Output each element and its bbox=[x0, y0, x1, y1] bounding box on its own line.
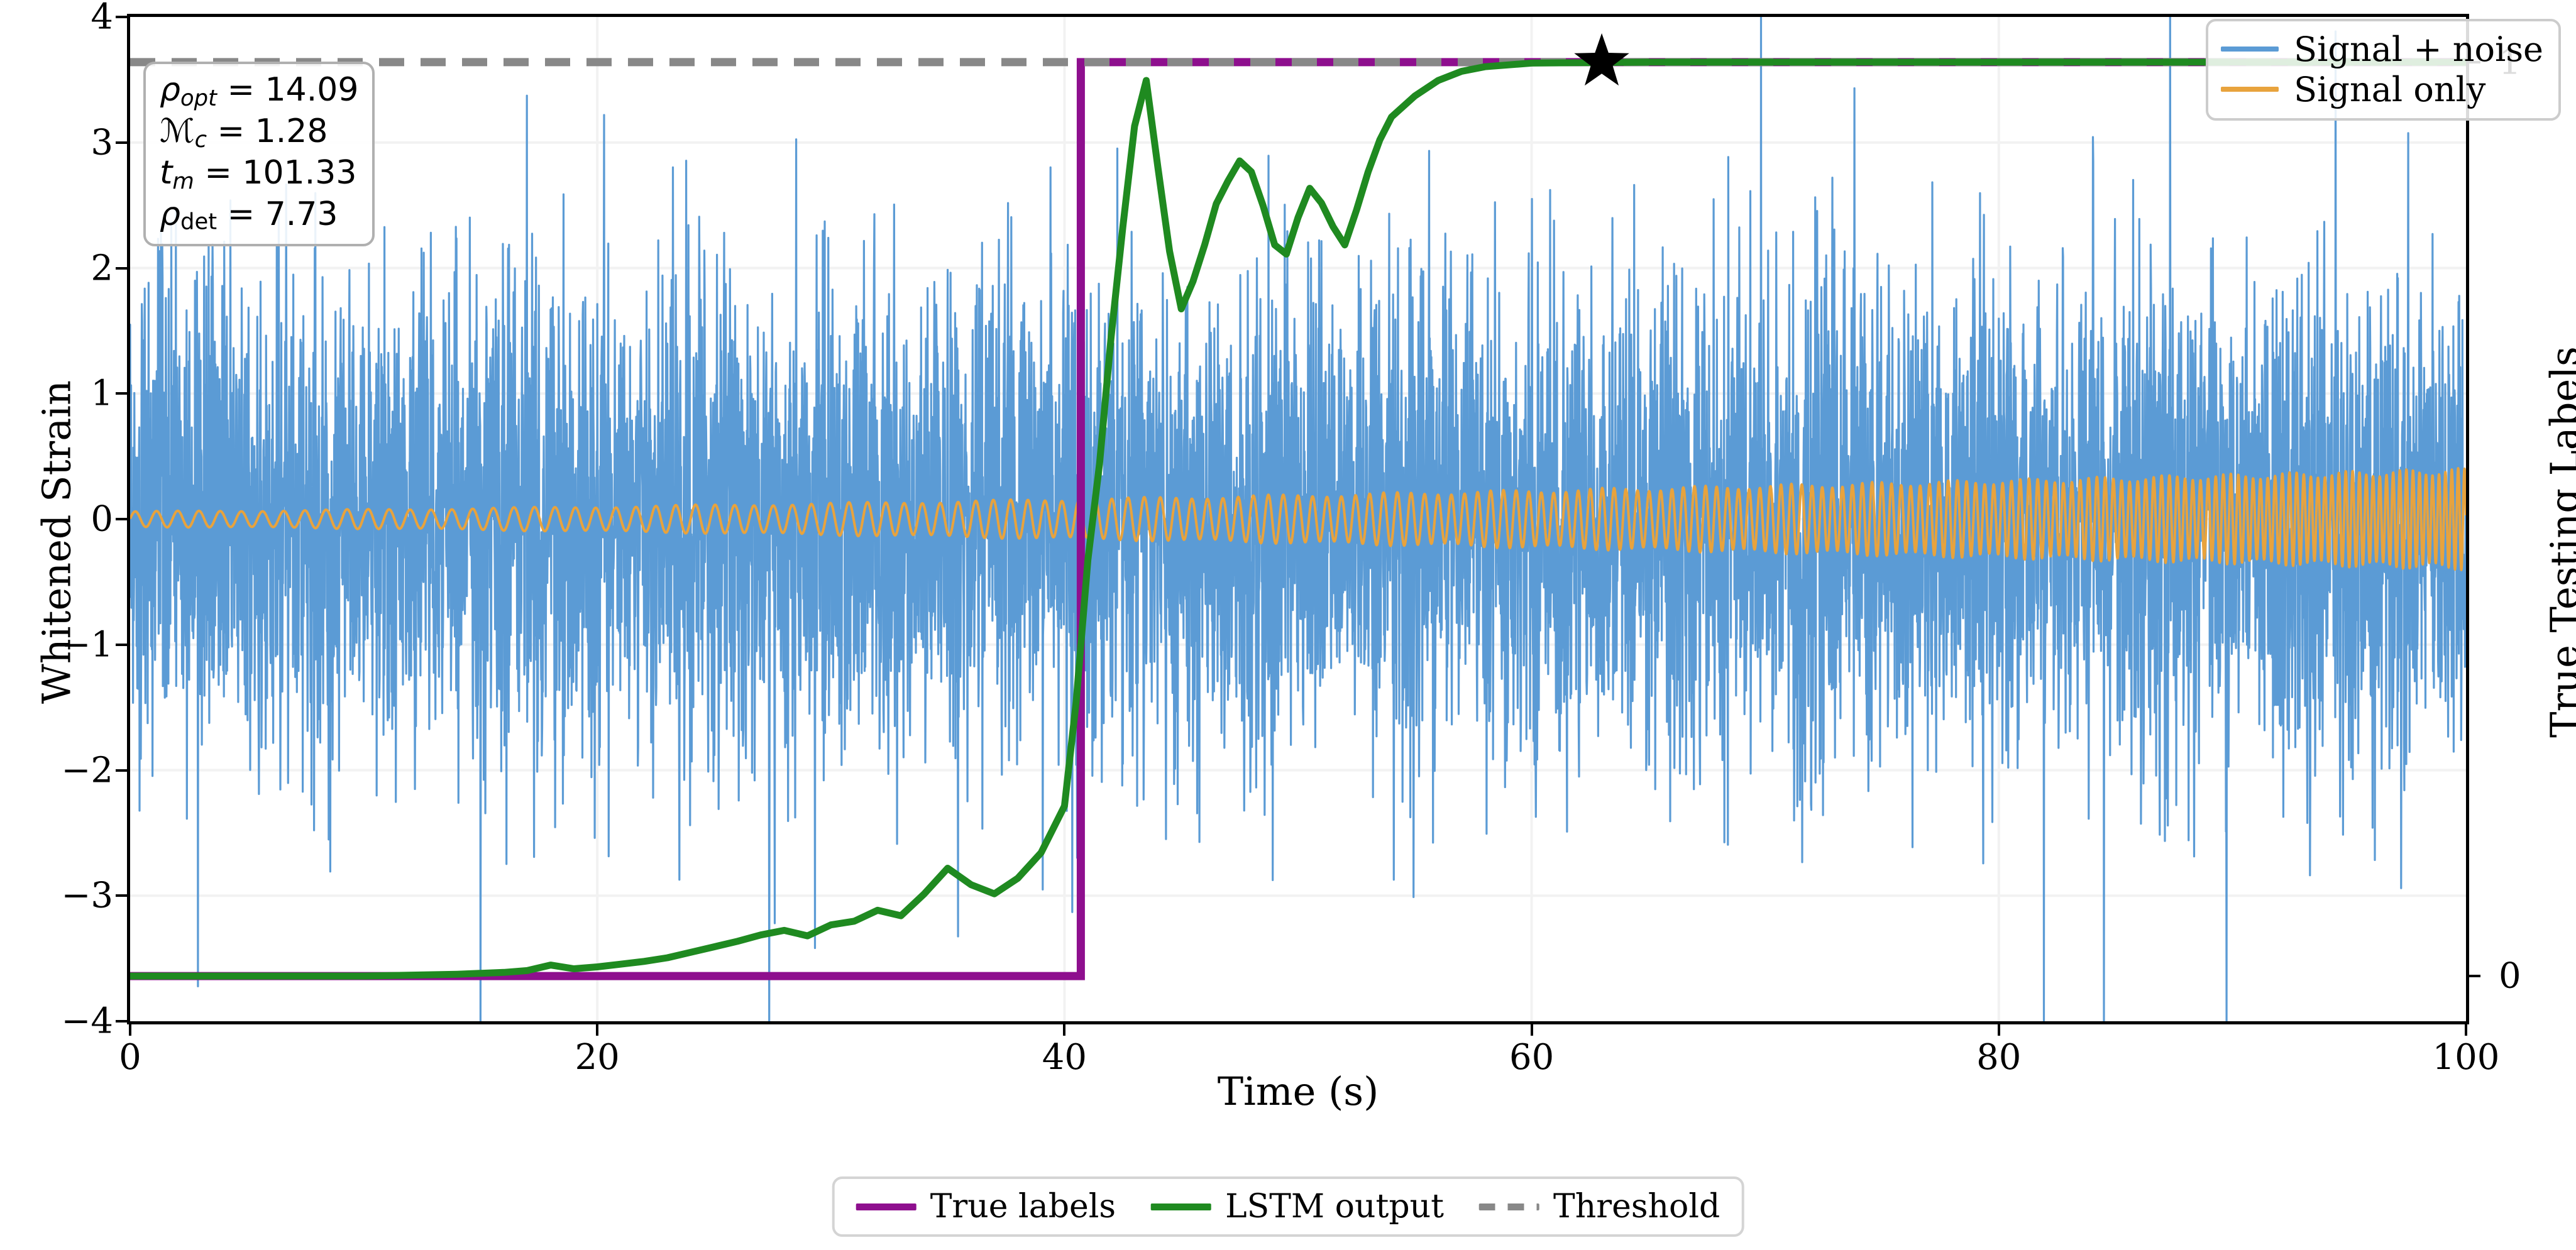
plot-clip bbox=[130, 17, 2466, 1021]
chirp-mass-value: = 1.28 bbox=[217, 112, 328, 150]
y-tick-label-left: −2 bbox=[13, 750, 113, 791]
parameter-annotation-box: ρopt = 14.09 ℳc = 1.28 tm = 101.33 ρdet … bbox=[143, 62, 375, 246]
chirp-mass-subscript: c bbox=[195, 127, 207, 153]
annotation-row-rho-det: ρdet = 7.73 bbox=[160, 195, 358, 235]
annotation-row-rho-opt: ρopt = 14.09 bbox=[160, 70, 358, 112]
y-tick-label-left: 0 bbox=[13, 499, 113, 540]
merger-time-value: = 101.33 bbox=[204, 154, 356, 192]
legend-swatch-threshold bbox=[1479, 1203, 1539, 1210]
y-tick-mark-left bbox=[116, 392, 127, 395]
legend-swatch-true-labels bbox=[856, 1203, 916, 1210]
x-tick-mark bbox=[2465, 1024, 2467, 1036]
annotation-row-chirp-mass: ℳc = 1.28 bbox=[160, 112, 358, 153]
merger-time-symbol: t bbox=[160, 154, 172, 192]
legend-label-true-labels: True labels bbox=[930, 1188, 1116, 1225]
y-axis-title-left: Whitened Strain bbox=[34, 272, 80, 813]
y-tick-mark-left bbox=[116, 1020, 127, 1022]
legend-label-lstm-output: LSTM output bbox=[1225, 1188, 1444, 1225]
legend-label-signal-plus-noise: Signal + noise bbox=[2294, 30, 2543, 69]
annotation-row-merger-time: tm = 101.33 bbox=[160, 153, 358, 195]
y-tick-mark-left bbox=[116, 16, 127, 18]
y-tick-label-left: −4 bbox=[13, 1001, 113, 1042]
x-tick-mark bbox=[596, 1024, 598, 1036]
plot-svg bbox=[130, 17, 2466, 1021]
legend-item-signal-only[interactable]: Signal only bbox=[2221, 69, 2543, 109]
x-tick-label: 40 bbox=[1001, 1037, 1127, 1078]
x-tick-label: 100 bbox=[2403, 1037, 2529, 1078]
legend-label-signal-only: Signal only bbox=[2294, 70, 2485, 109]
legend-item-true-labels[interactable]: True labels bbox=[856, 1188, 1116, 1225]
legend-swatch-lstm-output bbox=[1151, 1203, 1211, 1210]
x-tick-mark bbox=[1531, 1024, 1533, 1036]
legend-bottom: True labels LSTM output Threshold bbox=[832, 1176, 1744, 1237]
legend-label-threshold: Threshold bbox=[1553, 1188, 1720, 1225]
y-tick-mark-left bbox=[116, 769, 127, 772]
y-tick-mark-left bbox=[116, 894, 127, 897]
y-tick-label-left: −3 bbox=[13, 875, 113, 916]
y-tick-mark-left bbox=[116, 518, 127, 520]
legend-item-signal-plus-noise[interactable]: Signal + noise bbox=[2221, 29, 2543, 69]
rho-det-subscript: det bbox=[180, 209, 217, 234]
y-tick-label-left: 2 bbox=[13, 248, 113, 288]
rho-opt-value: = 14.09 bbox=[228, 71, 359, 109]
y-tick-label-left: 4 bbox=[13, 0, 113, 38]
y-tick-mark-left bbox=[116, 267, 127, 270]
legend-swatch-signal-only bbox=[2221, 87, 2279, 92]
x-axis-title: Time (s) bbox=[127, 1068, 2469, 1114]
rho-det-value: = 7.73 bbox=[228, 195, 338, 233]
legend-top-right: Signal + noise Signal only bbox=[2206, 19, 2561, 121]
legend-item-lstm-output[interactable]: LSTM output bbox=[1151, 1188, 1444, 1225]
y-tick-mark-left bbox=[116, 141, 127, 144]
y-tick-label-right: 0 bbox=[2499, 956, 2574, 997]
x-tick-label: 80 bbox=[1936, 1037, 2062, 1078]
chirp-mass-symbol: ℳ bbox=[160, 112, 195, 150]
y-axis-title-right: True Testing Labels bbox=[2542, 272, 2576, 813]
x-tick-mark bbox=[129, 1024, 131, 1036]
merger-time-subscript: m bbox=[172, 168, 194, 194]
y-tick-mark-left bbox=[116, 644, 127, 646]
x-tick-mark bbox=[1998, 1024, 2000, 1036]
legend-item-threshold[interactable]: Threshold bbox=[1479, 1188, 1720, 1225]
y-tick-label-left: 3 bbox=[13, 122, 113, 163]
plot-area bbox=[127, 14, 2469, 1024]
rho-opt-symbol: ρ bbox=[160, 71, 180, 109]
detection-star-icon bbox=[1574, 33, 1629, 85]
figure-canvas: ρopt = 14.09 ℳc = 1.28 tm = 101.33 ρdet … bbox=[0, 0, 2576, 1250]
y-tick-label-left: 1 bbox=[13, 373, 113, 414]
y-tick-label-left: −1 bbox=[13, 624, 113, 665]
x-tick-label: 0 bbox=[67, 1037, 193, 1078]
x-tick-label: 60 bbox=[1469, 1037, 1595, 1078]
x-tick-label: 20 bbox=[534, 1037, 660, 1078]
legend-swatch-signal-plus-noise bbox=[2221, 47, 2279, 52]
x-tick-mark bbox=[1063, 1024, 1065, 1036]
rho-opt-subscript: opt bbox=[180, 85, 217, 111]
rho-det-symbol: ρ bbox=[160, 195, 180, 233]
y-tick-mark-right bbox=[2469, 975, 2480, 977]
